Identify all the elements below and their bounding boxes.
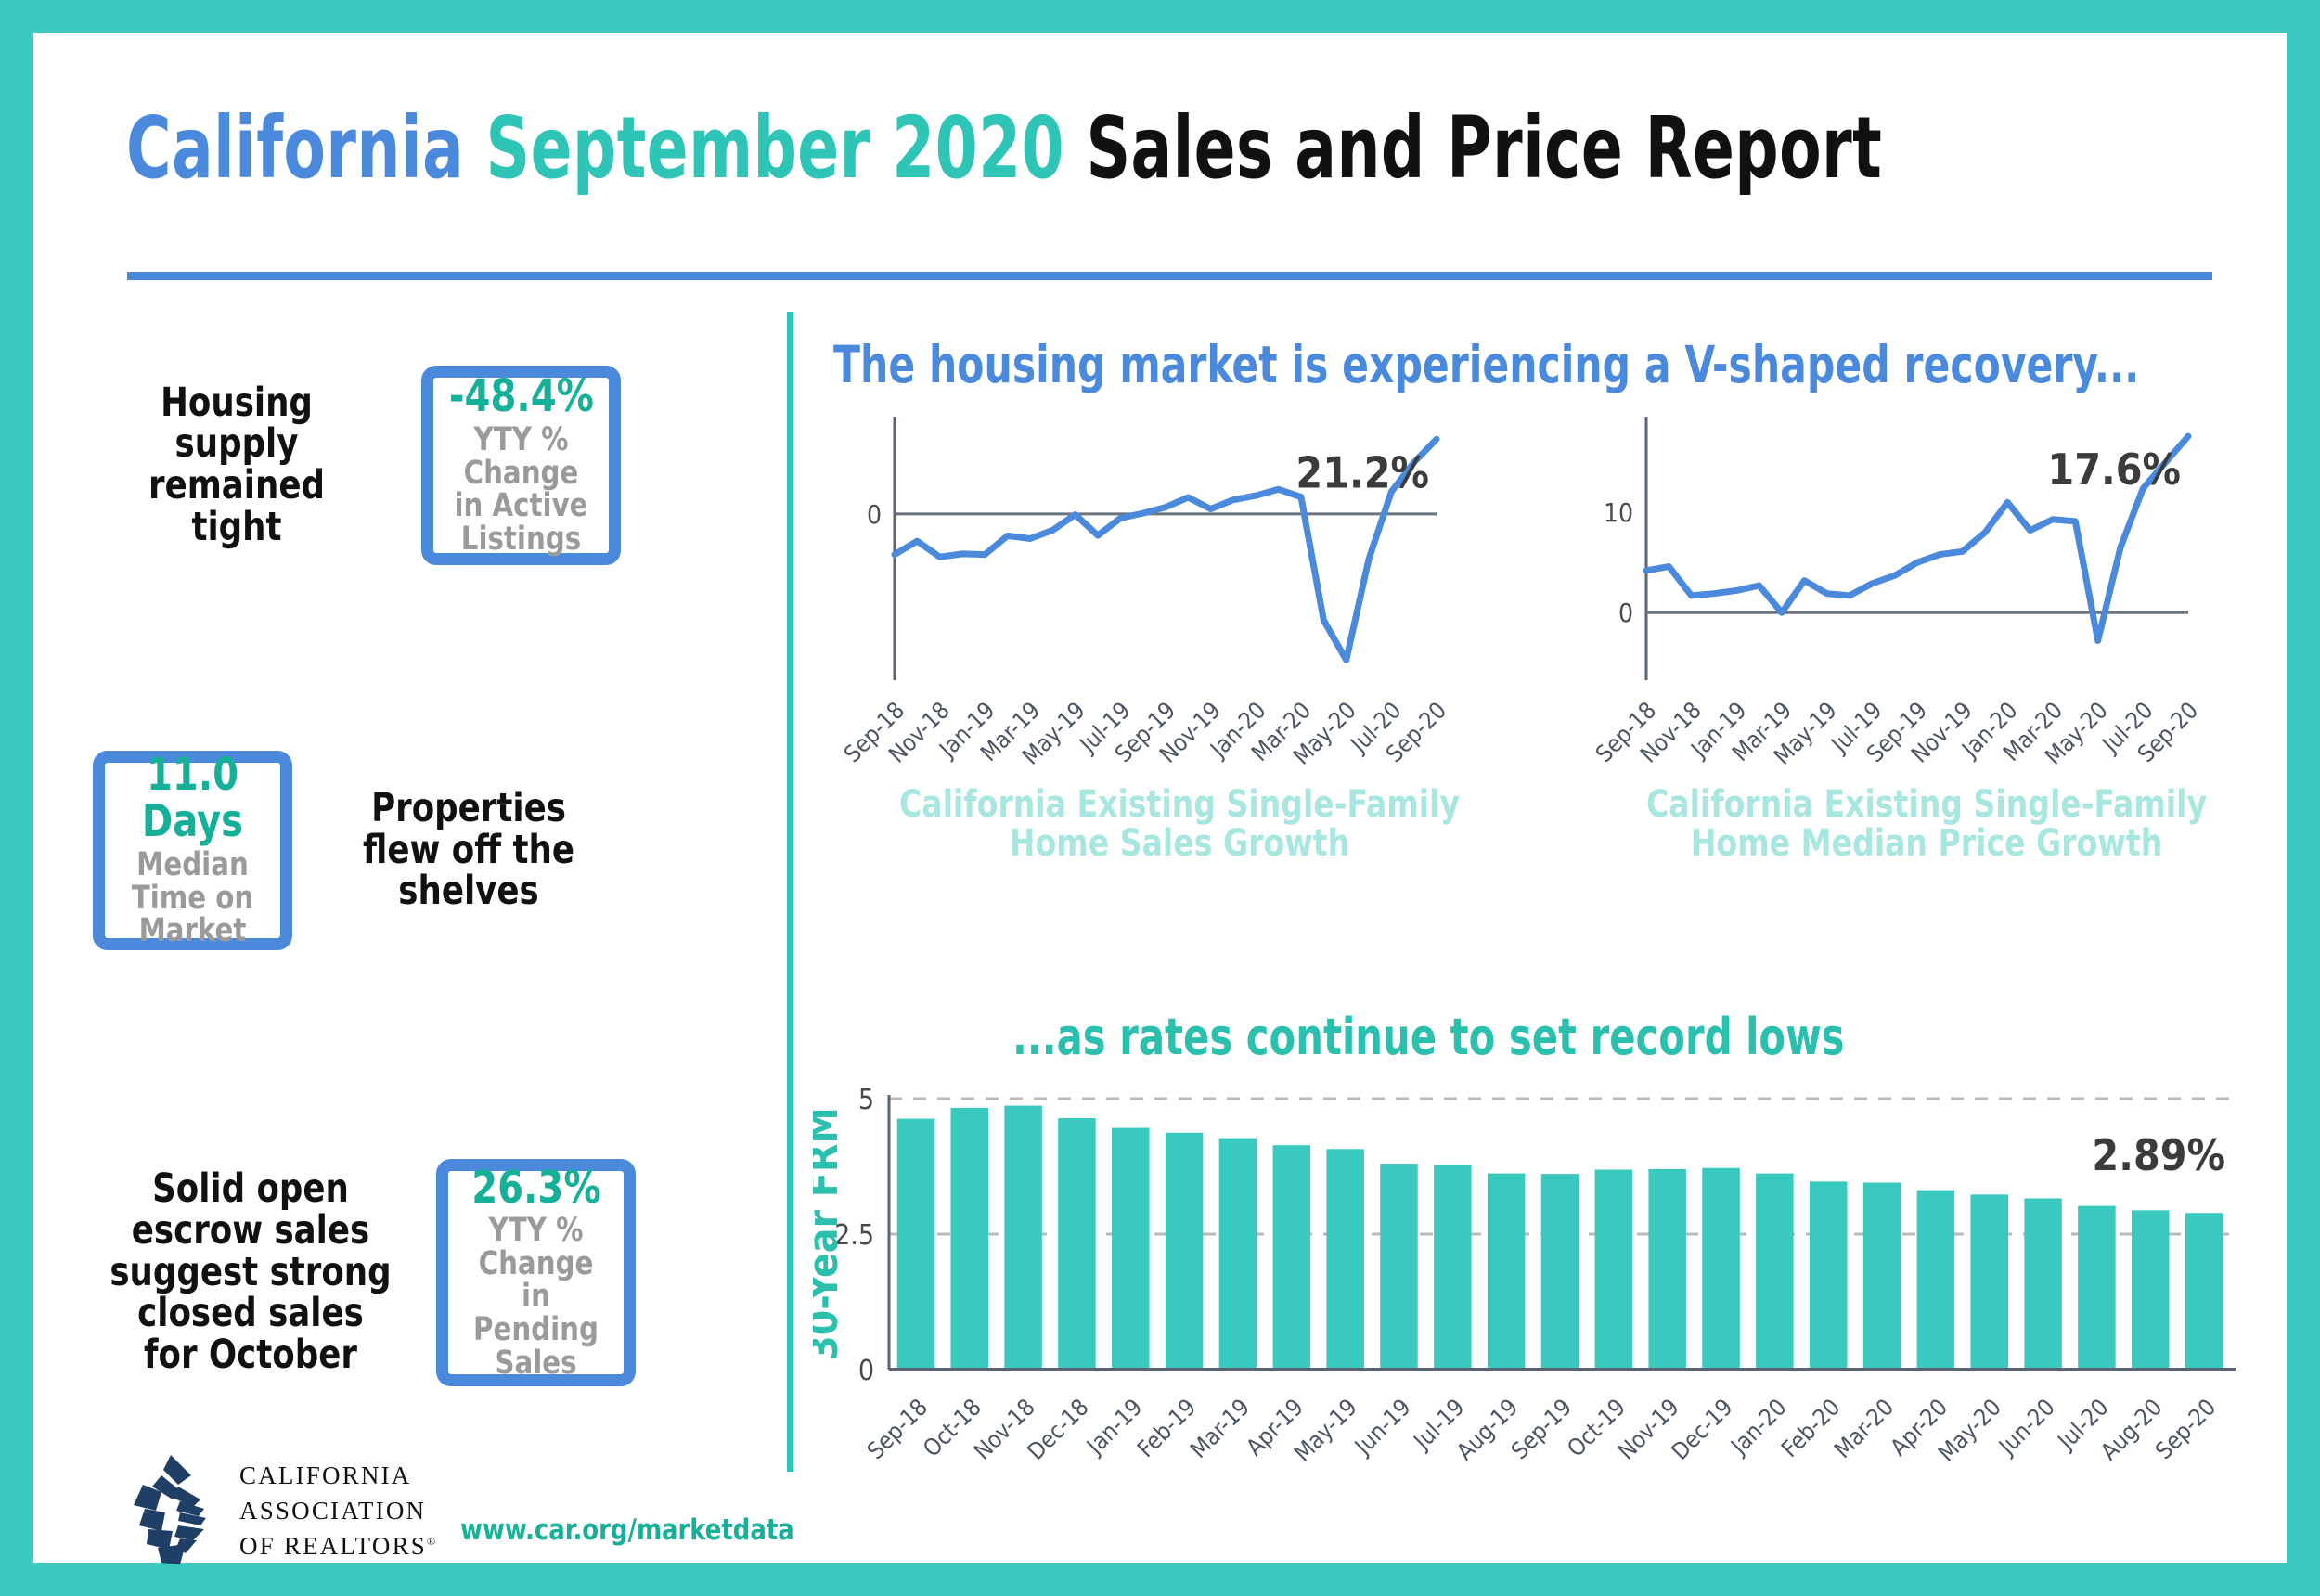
svg-text:Jan-19: Jan-19 [1080,1394,1147,1461]
car-market-data-url[interactable]: www.car.org/marketdata [460,1513,794,1547]
svg-text:21.2%: 21.2% [1295,447,1429,497]
svg-text:Mar-19: Mar-19 [1185,1394,1255,1463]
title-divider-rule [127,272,2212,280]
stat-row-median-time-on-market: 11.0 Days Median Time on Market Properti… [93,701,780,998]
svg-text:Jun-20: Jun-20 [1992,1394,2060,1461]
car-logo: CALIFORNIA ASSOCIATION OF REALTORS® [124,1451,437,1570]
svg-text:0: 0 [1618,598,1633,628]
svg-text:17.6%: 17.6% [2047,444,2181,495]
svg-text:30-Year FRM: 30-Year FRM [813,1107,847,1360]
svg-text:Feb-20: Feb-20 [1776,1394,1846,1463]
stat-label: Median Time on Market [116,849,269,948]
stat-label: YTY % Change in Active Listings [445,424,598,557]
left-stats-column: Housing supply remained tight -48.4% YTY… [76,312,781,1462]
svg-text:Feb-19: Feb-19 [1132,1394,1202,1463]
car-logo-wordmark: CALIFORNIA ASSOCIATION OF REALTORS® [239,1458,437,1564]
svg-text:2.89%: 2.89% [2092,1130,2225,1180]
registered-mark: ® [427,1535,437,1548]
svg-text:Jan-20: Jan-20 [1724,1394,1791,1461]
chart-30yr-frm-svg: 02.5530-Year FRM2.89%Sep-18Oct-18Nov-18D… [813,1082,2288,1481]
page-title: California September 2020 Sales and Pric… [126,106,1797,191]
car-logo-mark [124,1451,223,1570]
svg-text:5: 5 [858,1084,874,1116]
infographic-frame: California September 2020 Sales and Pric… [33,33,2287,1563]
stat-value: -48.4% [448,373,593,419]
title-part-california: California [126,98,486,198]
svg-text:0: 0 [858,1355,874,1387]
chart-price-growth: 01017.6%Sep-18Nov-18Jan-19Mar-19May-19Ju… [1565,409,2279,836]
stat-box: 26.3% YTY % Change in Pending Sales [436,1159,636,1386]
svg-text:Dec-18: Dec-18 [1022,1394,1093,1465]
vertical-divider [787,312,793,1472]
right-charts-column: The housing market is experiencing a V-s… [813,312,2288,1509]
stat-value: 11.0 Days [116,752,269,845]
stat-caption: Solid open escrow sales suggest strong c… [106,1168,396,1376]
svg-text:Mar-20: Mar-20 [1829,1394,1899,1463]
svg-text:Aug-20: Aug-20 [2095,1394,2168,1466]
stat-row-pending-sales: Solid open escrow sales suggest strong c… [93,1110,780,1435]
svg-text:Sep-20: Sep-20 [2150,1394,2221,1464]
logo-line-2: ASSOCIATION [239,1493,437,1528]
svg-text:Aug-19: Aug-19 [1451,1394,1524,1466]
stat-value: 26.3% [471,1165,600,1211]
chart-price-growth-caption: California Existing Single-Family Home M… [1593,785,2260,864]
chart-price-growth-svg: 01017.6%Sep-18Nov-18Jan-19Mar-19May-19Ju… [1565,409,2288,780]
chart-30yr-frm: 02.5530-Year FRM2.89%Sep-18Oct-18Nov-18D… [813,1082,2288,1481]
section-heading-recovery: The housing market is experiencing a V-s… [833,340,2139,391]
stat-box: 11.0 Days Median Time on Market [93,751,292,950]
section-heading-rates: ...as rates continue to set record lows [1012,1012,1845,1062]
stat-row-active-listings: Housing supply remained tight -48.4% YTY… [93,312,780,618]
title-part-subject: Sales and Price Report [1086,98,1882,198]
stat-caption: Housing supply remained tight [104,382,368,548]
chart-sales-growth-caption: California Existing Single-Family Home S… [851,785,1508,864]
svg-text:Sep-19: Sep-19 [1506,1394,1577,1464]
chart-sales-growth: 021.2%Sep-18Nov-18Jan-19Mar-19May-19Jul-… [822,409,1537,836]
svg-text:Jun-19: Jun-19 [1348,1394,1416,1461]
chart-sales-growth-svg: 021.2%Sep-18Nov-18Jan-19Mar-19May-19Jul-… [822,409,1537,780]
stat-label: YTY % Change in Pending Sales [459,1215,612,1380]
logo-line-1: CALIFORNIA [239,1458,437,1493]
stat-caption: Properties flew off the shelves [332,788,605,912]
svg-text:Sep-18: Sep-18 [862,1394,933,1464]
title-part-month-year: September 2020 [486,98,1087,198]
svg-text:10: 10 [1604,497,1633,528]
logo-line-3: OF REALTORS [239,1532,427,1560]
svg-text:0: 0 [867,499,882,530]
svg-text:Dec-19: Dec-19 [1667,1394,1738,1465]
line-charts-row: 021.2%Sep-18Nov-18Jan-19Mar-19May-19Jul-… [813,409,2288,836]
stat-box: -48.4% YTY % Change in Active Listings [421,366,621,565]
